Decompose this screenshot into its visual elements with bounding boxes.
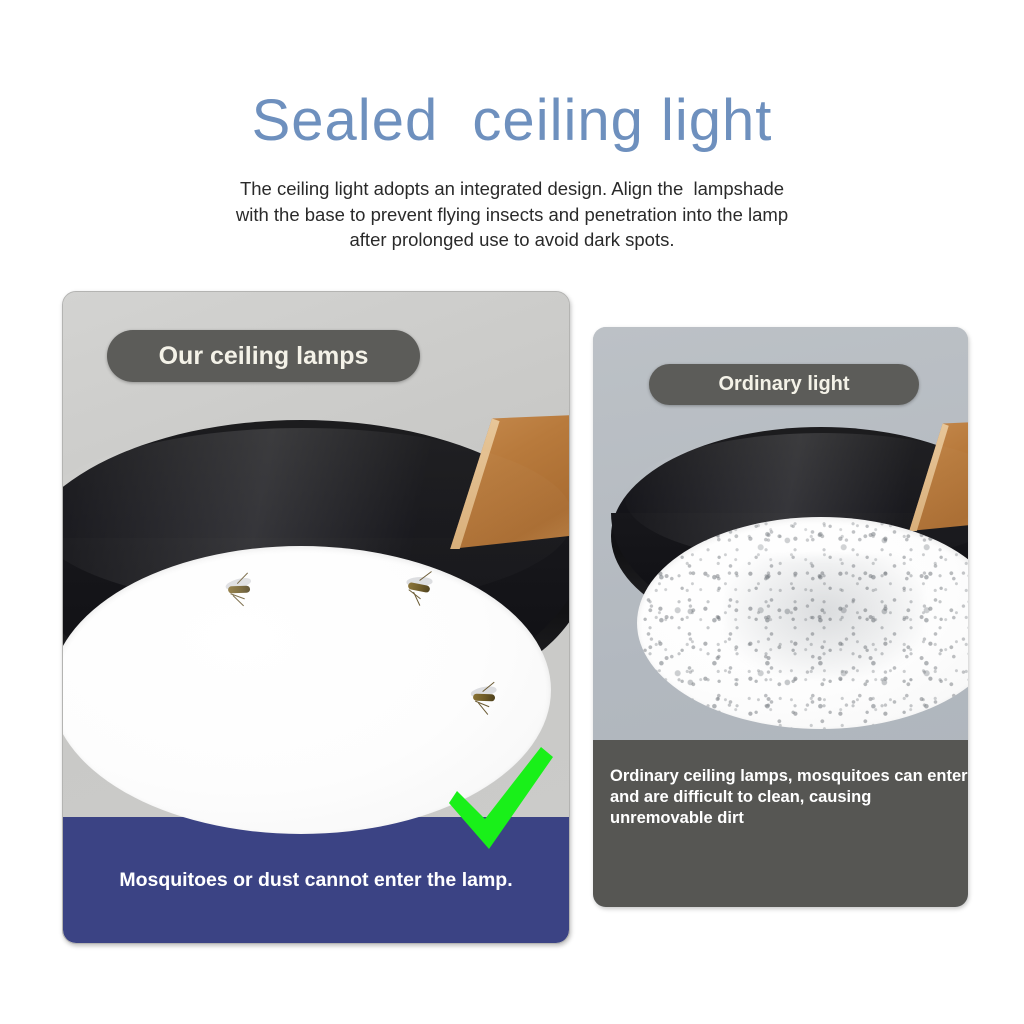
ordinary-lamp-caption-bar: Ordinary ceiling lamps, mosquitoes can e… <box>593 740 968 907</box>
badge-ordinary-light: Ordinary light <box>649 364 919 405</box>
ordinary-ceiling-lamp-illustration <box>611 427 968 757</box>
lamp-dirty-diffuser <box>637 517 968 729</box>
badge-our-ceiling-lamps: Our ceiling lamps <box>107 330 420 382</box>
lamp-body <box>62 420 570 890</box>
mosquito-body <box>228 586 250 594</box>
caption-line: unremovable dirt <box>610 808 955 829</box>
sealed-ceiling-lamp-illustration <box>62 420 570 890</box>
caption-line: Ordinary ceiling lamps, mosquitoes can e… <box>610 766 955 787</box>
our-lamp-photo: Mosquitoes or dust cannot enter the lamp… <box>63 292 569 943</box>
lamp-body <box>611 427 968 757</box>
mosquito-icon <box>460 680 508 713</box>
badge-label: Our ceiling lamps <box>159 342 369 371</box>
badge-label: Ordinary light <box>718 373 849 396</box>
mosquito-icon <box>395 570 443 604</box>
comparison-section: Mosquitoes or dust cannot enter the lamp… <box>0 0 1024 1024</box>
caption-line: and are difficult to clean, causing <box>610 787 955 808</box>
ordinary-lamp-caption-text: Ordinary ceiling lamps, mosquitoes can e… <box>610 766 955 829</box>
panel-our-ceiling-lamps: Mosquitoes or dust cannot enter the lamp… <box>62 291 570 944</box>
dust-speckles <box>637 517 968 729</box>
panel-ordinary-light: Ordinary ceiling lamps, mosquitoes can e… <box>593 327 968 907</box>
ordinary-lamp-photo: Ordinary ceiling lamps, mosquitoes can e… <box>593 327 968 907</box>
lamp-white-diffuser <box>62 546 551 834</box>
mosquito-icon <box>214 571 264 607</box>
